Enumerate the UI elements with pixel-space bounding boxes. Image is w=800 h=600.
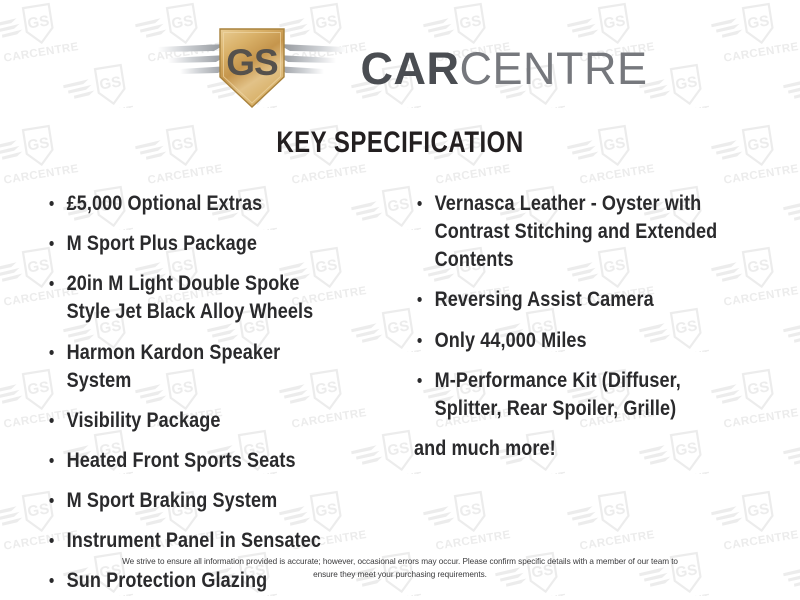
specification-columns: £5,000 Optional Extras M Sport Plus Pack… [0, 190, 800, 600]
spec-item: M Sport Braking System [46, 487, 342, 515]
spec-item: Visibility Package [46, 407, 342, 435]
spec-item: M-Performance Kit (Diffuser, Splitter, R… [414, 367, 730, 423]
spec-item: Instrument Panel in Sensatec [46, 527, 342, 555]
spec-item: Only 44,000 Miles [414, 327, 730, 355]
brand-wordmark-bold: CAR [360, 43, 459, 94]
page-title: KEY SPECIFICATION [80, 126, 720, 160]
spec-item: Harmon Kardon Speaker System [46, 339, 342, 395]
svg-text:GS: GS [227, 42, 279, 83]
spec-item: M Sport Plus Package [46, 230, 342, 258]
brand-wordmark: CARCENTRE [360, 46, 647, 91]
spec-list-right: Vernasca Leather - Oyster with Contrast … [414, 190, 782, 463]
spec-item: £5,000 Optional Extras [46, 190, 342, 218]
spec-item: 20in M Light Double Spoke Style Jet Blac… [46, 270, 342, 326]
spec-closing-note: and much more! [414, 435, 730, 463]
spec-sheet-page: GS CARCENTRE [0, 0, 800, 600]
spec-list-left: £5,000 Optional Extras M Sport Plus Pack… [46, 190, 390, 595]
brand-wordmark-light: CENTRE [459, 43, 647, 94]
brand-header: GS CARCENTRE [0, 24, 800, 112]
spec-item: Vernasca Leather - Oyster with Contrast … [414, 190, 730, 274]
spec-item: Reversing Assist Camera [414, 286, 730, 314]
spec-column-right: Vernasca Leather - Oyster with Contrast … [400, 190, 800, 475]
gs-shield-logo-icon: GS [152, 25, 352, 111]
spec-column-left: £5,000 Optional Extras M Sport Plus Pack… [0, 190, 400, 600]
disclaimer-text: We strive to ensure all information prov… [110, 556, 690, 581]
spec-item: Heated Front Sports Seats [46, 447, 342, 475]
